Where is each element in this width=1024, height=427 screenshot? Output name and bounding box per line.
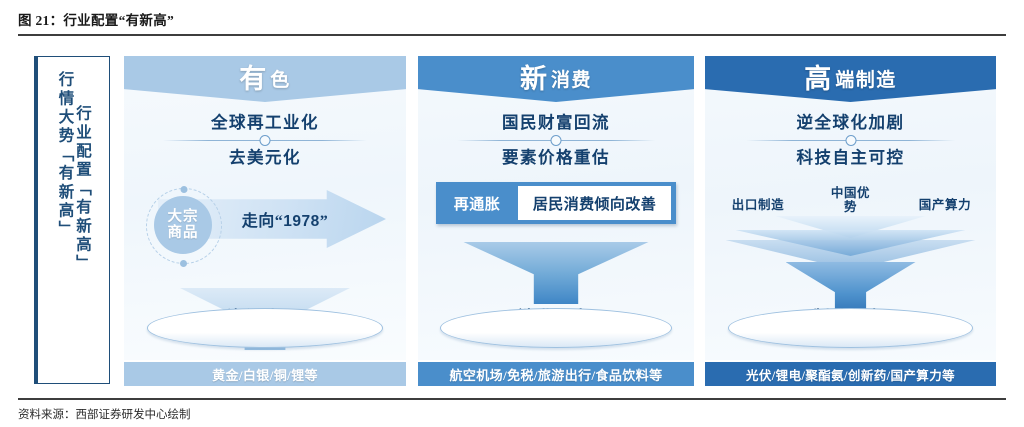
- figure-caption: 图 21：行业配置“有新高”: [18, 9, 174, 29]
- column-footer: 光伏/锂电/聚酯氨/创新药/国产算力等: [705, 362, 996, 386]
- divider-ring-icon: [845, 135, 856, 146]
- column-nonferrous: 有 色 全球再工业化 去美元化 走向“1978”: [124, 56, 406, 386]
- arrow-label-year: 1978: [283, 213, 319, 230]
- conclusion-plate: [728, 308, 972, 348]
- badge-tag: 再通胀: [436, 193, 518, 214]
- down-arrow-shape: [464, 242, 649, 304]
- column-header-small: 端制造: [835, 65, 897, 92]
- column-footer: 黄金/白银/铜/锂等: [124, 362, 406, 386]
- arrow-label-suffix: ”: [320, 213, 329, 230]
- source-note: 资料来源：西部证券研发中心绘制: [18, 406, 191, 422]
- column-body: 新 消费 国民财富回流 要素价格重估 再通胀 居民消费倾向改善: [418, 56, 694, 360]
- circle-line-1: 大宗: [168, 209, 199, 225]
- statement-1: 全球再工业化: [124, 112, 406, 134]
- column-high-end-manufacturing: 高 端制造 逆全球化加剧 科技自主可控 出口制造 中国优势 国产算力: [705, 56, 996, 386]
- statement-pair: 国民财富回流 要素价格重估: [418, 112, 694, 170]
- statement-2: 去美元化: [124, 147, 406, 169]
- arrow-label-prefix: 走向“: [242, 213, 284, 230]
- badge-value: 居民消费倾向改善: [518, 186, 671, 220]
- figure-page: 图 21：行业配置“有新高” 行业配置「有新高」 行情大势「有新高」 有 色 全…: [0, 0, 1024, 427]
- column-header-big: 新: [520, 57, 548, 96]
- statement-divider: [705, 135, 996, 146]
- statement-divider: [418, 135, 694, 146]
- vertical-title-line-2: 行业配置「有新高」: [75, 105, 91, 273]
- column-header-big: 高: [804, 57, 832, 96]
- arrow-label: 走向“1978”: [210, 207, 360, 231]
- statement-2: 要素价格重估: [418, 147, 694, 169]
- statement-pair: 逆全球化加剧 科技自主可控: [705, 112, 996, 170]
- column-body: 有 色 全球再工业化 去美元化 走向“1978”: [124, 56, 406, 360]
- vertical-title-panel: 行业配置「有新高」 行情大势「有新高」: [34, 56, 110, 384]
- divider-ring-icon: [551, 135, 562, 146]
- consumption-middle: 再通胀 居民消费倾向改善: [418, 178, 694, 240]
- statement-1: 逆全球化加剧: [705, 112, 996, 134]
- column-footer: 航空机场/免税/旅游出行/食品饮料等: [418, 362, 694, 386]
- conclusion-plate: [440, 308, 672, 348]
- ring-dot-top-icon: [181, 186, 188, 193]
- column-new-consumption: 新 消费 国民财富回流 要素价格重估 再通胀 居民消费倾向改善: [418, 56, 694, 386]
- divider-ring-icon: [260, 135, 271, 146]
- top-rule: [18, 34, 1006, 36]
- column-header: 新 消费: [418, 56, 694, 102]
- bottom-rule: [18, 398, 1006, 400]
- statement-2: 科技自主可控: [705, 147, 996, 169]
- column-body: 高 端制造 逆全球化加剧 科技自主可控 出口制造 中国优势 国产算力: [705, 56, 996, 360]
- statement-1: 国民财富回流: [418, 112, 694, 134]
- column-header-small: 色: [270, 65, 291, 92]
- commodity-circle: 大宗 商品: [154, 196, 212, 254]
- driver-label-mid: 中国优势: [828, 186, 874, 215]
- column-header-small: 消费: [551, 65, 592, 92]
- reinflation-badge: 再通胀 居民消费倾向改善: [436, 182, 676, 224]
- circle-line-2: 商品: [168, 225, 199, 241]
- driver-label-left: 出口制造: [719, 198, 797, 212]
- column-header: 有 色: [124, 56, 406, 102]
- vertical-title-line-1: 行情大势「有新高」: [57, 71, 73, 239]
- figure-canvas: 行业配置「有新高」 行情大势「有新高」 有 色 全球再工业化 去美元化: [0, 44, 1024, 396]
- column-header: 高 端制造: [705, 56, 996, 102]
- column-header-big: 有: [239, 57, 267, 96]
- driver-label-right: 国产算力: [908, 198, 982, 212]
- statement-divider: [124, 135, 406, 146]
- statement-pair: 全球再工业化 去美元化: [124, 112, 406, 170]
- ring-dot-bottom-icon: [180, 260, 187, 267]
- conclusion-plate: [147, 308, 384, 348]
- nonferrous-middle: 走向“1978” 大宗 商品: [124, 180, 406, 290]
